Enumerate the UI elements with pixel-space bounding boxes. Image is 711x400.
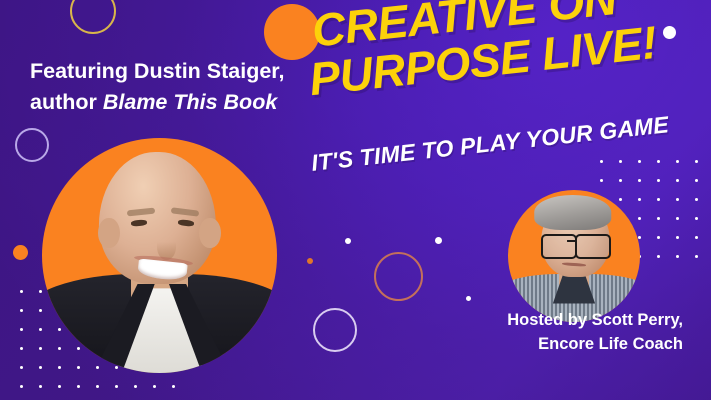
- dustin-ear-left: [98, 218, 119, 249]
- portrait-scott-perry: [508, 190, 640, 322]
- dustin-ear-right: [199, 218, 220, 249]
- scott-glasses-right: [575, 234, 611, 259]
- hosted-line-1: Hosted by Scott Perry,: [383, 309, 683, 332]
- scott-face: [508, 190, 640, 322]
- scott-hair: [535, 195, 612, 229]
- orange-dot-left: [13, 245, 28, 260]
- headline-block: CREATIVE ON PURPOSE LIVE!: [300, 0, 711, 209]
- dustin-face: [42, 138, 277, 373]
- scott-glasses-left: [541, 234, 577, 259]
- white-dot-a: [345, 238, 351, 244]
- portrait-dustin-staiger: [42, 138, 277, 373]
- orange-dot-center: [307, 258, 313, 264]
- promo-banner: CREATIVE ON PURPOSE LIVE! IT'S TIME TO P…: [0, 0, 711, 400]
- rust-ring-center: [374, 252, 423, 301]
- feature-book-title: Blame This Book: [103, 90, 277, 114]
- feature-author-label: author: [30, 90, 103, 114]
- white-ring-center: [313, 308, 357, 352]
- white-dot-d: [466, 296, 471, 301]
- feature-line-2: author Blame This Book: [30, 87, 310, 118]
- scott-glasses-bridge: [567, 240, 575, 242]
- gold-ring-top-left: [70, 0, 116, 34]
- white-dot-b: [435, 237, 442, 244]
- hosted-line-2: Encore Life Coach: [383, 333, 683, 356]
- feature-caption: Featuring Dustin Staiger, author Blame T…: [30, 56, 310, 117]
- hosted-caption: Hosted by Scott Perry, Encore Life Coach: [383, 309, 683, 356]
- feature-line-1: Featuring Dustin Staiger,: [30, 56, 310, 87]
